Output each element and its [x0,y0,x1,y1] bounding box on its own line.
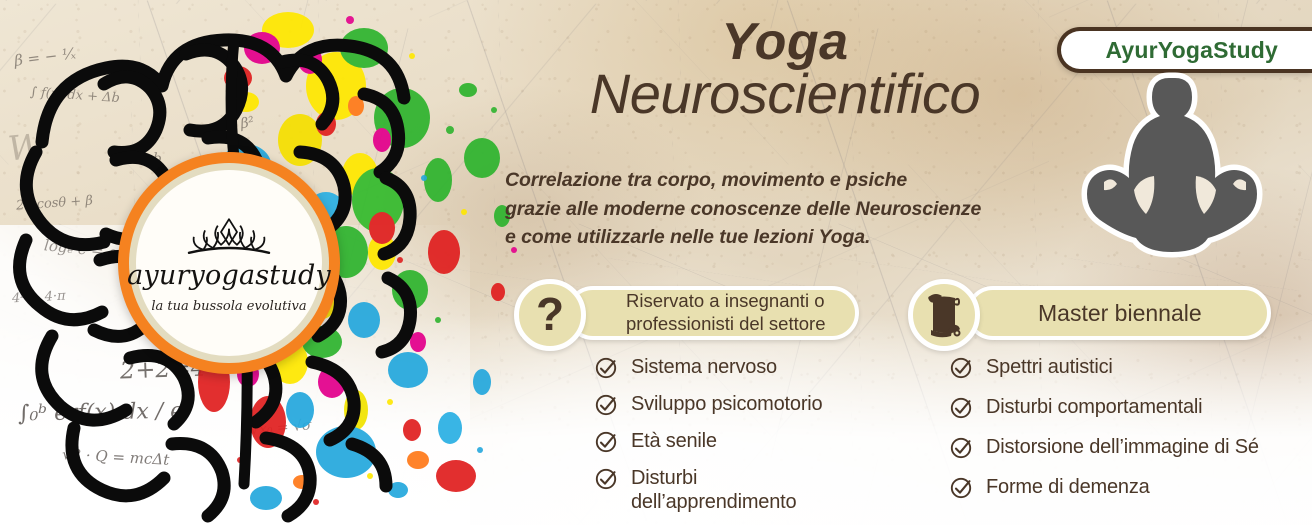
list-item-label: Distorsione dell’immagine di Sé [986,435,1259,459]
checklist-right: Spettri autistici Disturbi comportamenta… [950,355,1295,515]
subtitle-line-3: e come utilizzarle nelle tue lezioni Yog… [505,223,1065,252]
list-item: Spettri autistici [950,355,1295,380]
check-circle-icon [595,356,619,380]
list-item-label: Forme di demenza [986,475,1150,499]
logo-tagline: la tua bussola evolutiva [151,300,306,313]
pill-master-biennale[interactable]: Master biennale [966,286,1271,340]
brand-pill-label: AyurYogaStudy [1105,37,1278,64]
pill-reserved-line-1: Riservato a insegnanti o [626,290,826,313]
list-item: Distorsione dell’immagine di Sé [950,435,1295,460]
check-circle-icon [595,467,619,491]
lotus-pose-silhouette [1080,72,1270,272]
list-item-label-line-1: Disturbi [631,467,697,489]
list-item-label: Disturbi comportamentali [986,395,1202,419]
check-circle-icon [595,430,619,454]
lotus-flower-icon [181,214,277,258]
check-circle-icon [950,476,974,500]
list-item-label: Spettri autistici [986,355,1113,379]
list-item-label: Età senile [631,429,717,453]
list-item: Forme di demenza [950,475,1295,500]
list-item-label: Sistema nervoso [631,355,777,379]
list-item-label: Disturbi dell’apprendimento [631,466,796,514]
check-circle-icon [595,393,619,417]
logo-inner-ring: ayuryogastudy la tua bussola evolutiva [129,163,329,363]
subtitle-line-2: grazie alle moderne conoscenze delle Neu… [505,195,1065,224]
pill-master-label: Master biennale [1038,299,1202,327]
question-mark-icon: ? [514,279,586,351]
list-item: Disturbi dell’apprendimento [595,466,895,514]
check-circle-icon [950,356,974,380]
title-line-2: Neuroscientifico [505,65,1065,123]
logo-face: ayuryogastudy la tua bussola evolutiva [136,170,322,356]
list-item: Età senile [595,429,895,454]
pill-reserved-line-2: professionisti del settore [626,313,826,336]
brand-pill-button[interactable]: AyurYogaStudy [1057,27,1312,73]
pill-reserved-label: Riservato a insegnanti o professionisti … [626,290,826,335]
check-circle-icon [950,396,974,420]
page-title: Yoga Neuroscientifico [505,16,1065,123]
checklist-left: Sistema nervoso Sviluppo psicomotorio Et… [595,355,895,525]
ayuryogastudy-logo[interactable]: ayuryogastudy la tua bussola evolutiva [118,152,340,374]
list-item-label-line-2: dell’apprendimento [631,491,796,513]
scroll-diploma-icon [908,279,980,351]
logo-name: ayuryogastudy [127,262,331,289]
promo-banner: β = − ¹⁄ₓ ∫ f(x) dx + Δb W Σ aⁿ b 2 · co… [0,0,1312,525]
question-mark-glyph: ? [536,291,564,337]
subtitle: Correlazione tra corpo, movimento e psic… [505,166,1065,252]
list-item: Sistema nervoso [595,355,895,380]
check-circle-icon [950,436,974,460]
list-item: Disturbi comportamentali [950,395,1295,420]
list-item-label: Sviluppo psicomotorio [631,392,822,416]
subtitle-line-1: Correlazione tra corpo, movimento e psic… [505,166,1065,195]
pill-reserved-for[interactable]: ? Riservato a insegnanti o professionist… [566,286,859,340]
list-item: Sviluppo psicomotorio [595,392,895,417]
